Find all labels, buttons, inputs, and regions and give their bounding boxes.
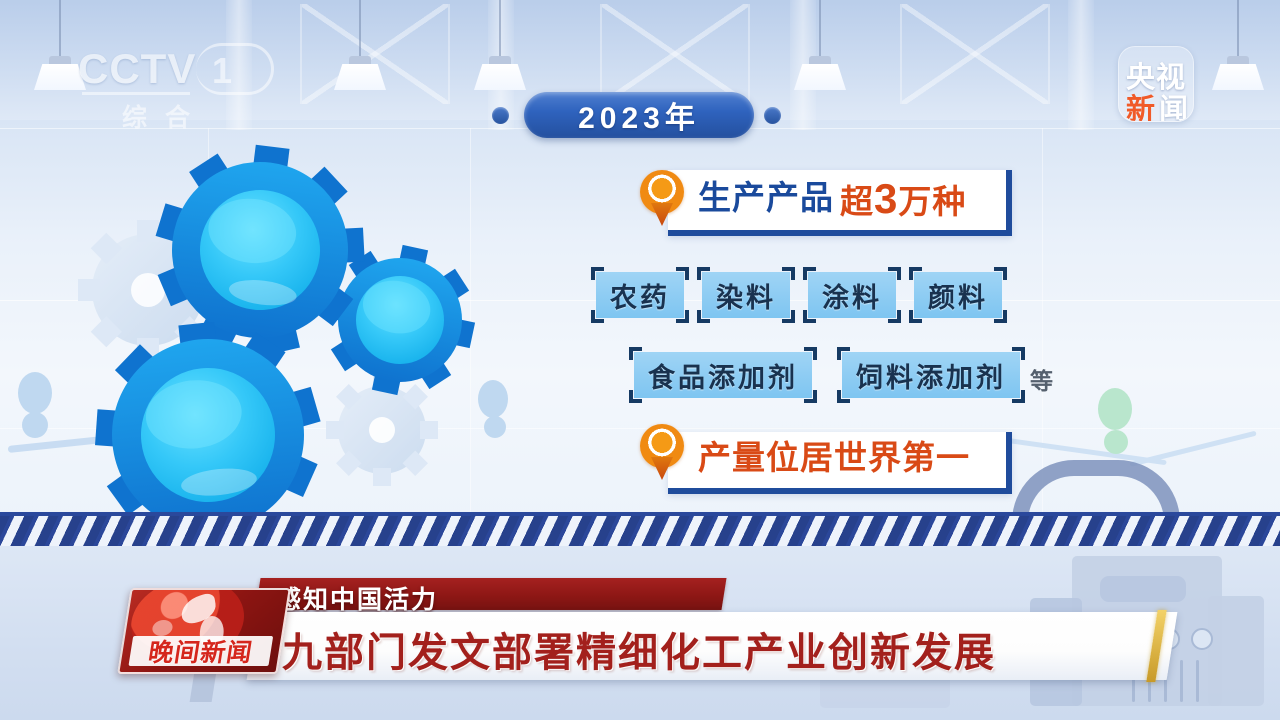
control-slider <box>1196 660 1199 702</box>
year-badge-dot-right <box>764 107 781 124</box>
molecule-node <box>22 412 48 438</box>
machine-hood <box>1100 576 1186 602</box>
year-badge-dot-left <box>492 107 509 124</box>
gears-illustration <box>60 140 530 540</box>
product-tag-label: 染料 <box>716 276 776 315</box>
cctv-news-logo-line2-second: 闻 <box>1159 86 1188 122</box>
cctv-news-logo-line2-first: 新 <box>1126 86 1155 122</box>
product-tag[interactable]: 饲料添加剂 <box>842 352 1020 398</box>
cctv-underline <box>82 92 190 95</box>
stat-prefix: 超 <box>840 183 874 220</box>
molecule-node <box>1104 430 1128 454</box>
ceiling-truss-brace <box>900 4 1050 104</box>
location-pin-icon <box>640 424 684 480</box>
location-pin-icon <box>640 170 684 226</box>
control-slider <box>1180 660 1183 702</box>
product-tag-label: 涂料 <box>822 276 882 315</box>
cctv-channel-watermark: CCTV 1 综合 <box>78 48 278 132</box>
product-tag[interactable]: 农药 <box>596 272 684 318</box>
product-tag-suffix: 等 <box>1030 362 1053 396</box>
stat-output-rank-label: 产量位居世界第一 <box>698 441 970 474</box>
product-tag-label: 食品添加剂 <box>648 356 798 395</box>
product-tag-label: 农药 <box>610 276 670 315</box>
ceiling-truss-brace <box>600 4 750 104</box>
product-tag[interactable]: 食品添加剂 <box>634 352 812 398</box>
molecule-node <box>18 372 52 414</box>
hazard-stripe-divider <box>0 516 1280 546</box>
cctv-channel-subtitle: 综合 <box>122 98 208 134</box>
cctv-news-logo: 央视 新 闻 <box>1118 46 1194 122</box>
product-tag-row-2: 食品添加剂 饲料添加剂 等 <box>634 352 1053 398</box>
molecule-node <box>1098 388 1132 430</box>
product-tag[interactable]: 染料 <box>702 272 790 318</box>
year-badge-label: 2023年 <box>578 93 700 137</box>
headline-text: 九部门发文部署精细化工产业创新发展 <box>282 620 996 678</box>
stat-production-label: 生产产品 <box>698 181 834 214</box>
product-tag[interactable]: 涂料 <box>808 272 896 318</box>
product-tag-label: 颜料 <box>928 276 988 315</box>
wall-seam-line <box>1042 128 1043 518</box>
product-tag-label: 饲料添加剂 <box>856 356 1006 395</box>
machine-side-cabinet <box>1208 596 1264 706</box>
stat-suffix: 万种 <box>898 183 966 220</box>
broadcast-screen: CCTV 1 综合 央视 新 闻 2023年 生产产品 超3万种 农药 染料 涂… <box>0 0 1280 720</box>
cctv-channel-number: 1 <box>212 50 232 92</box>
kicker-text: 感知中国活力 <box>276 580 438 616</box>
product-tag[interactable]: 颜料 <box>914 272 1002 318</box>
stat-production-value: 超3万种 <box>840 178 966 220</box>
program-logo: 晚间新闻 <box>117 588 291 674</box>
gauge-icon <box>1191 628 1213 650</box>
cctv-channel-number-frame: 1 <box>196 43 274 95</box>
ceiling-pillar <box>1068 0 1094 130</box>
year-badge: 2023年 <box>524 92 754 138</box>
product-tag-row-1: 农药 染料 涂料 颜料 <box>596 272 1020 318</box>
program-logo-label: 晚间新闻 <box>128 636 273 666</box>
stat-number: 3 <box>874 175 898 222</box>
